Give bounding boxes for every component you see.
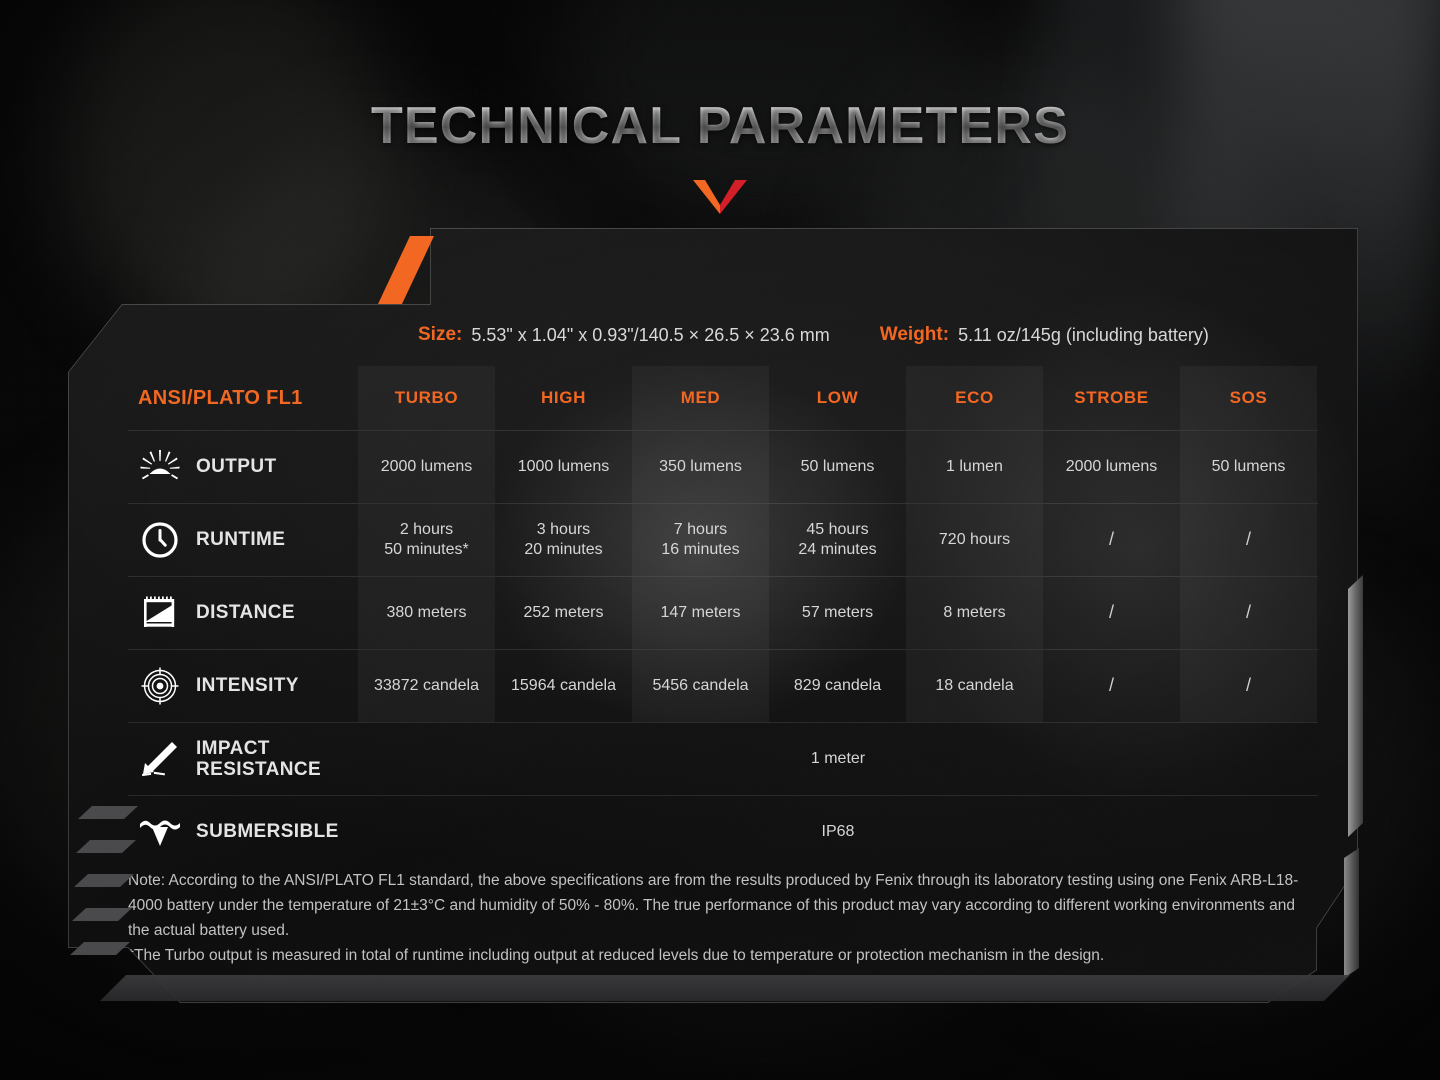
right-edge-strip-lower — [1344, 848, 1359, 978]
row-label-text: OUTPUT — [196, 456, 277, 477]
slash-decoration — [78, 806, 138, 819]
note-line-2: *The Turbo output is measured in total o… — [128, 943, 1318, 968]
row-label-text: RUNTIME — [196, 529, 285, 550]
slash-decoration — [76, 840, 136, 853]
submersible-icon — [138, 812, 182, 852]
cell-distance-low: 57 meters — [769, 577, 906, 649]
cell-impact-resistance-value: 1 meter — [358, 723, 1318, 795]
cell-runtime-low: 45 hours 24 minutes — [769, 504, 906, 576]
row-label-submersible: SUBMERSIBLE — [128, 796, 358, 868]
cell-distance-sos: / — [1180, 577, 1317, 649]
row-label-text: IMPACT RESISTANCE — [196, 738, 321, 781]
weight-value: 5.11 oz/145g (including battery) — [958, 325, 1209, 346]
row-label-text: INTENSITY — [196, 675, 299, 696]
cell-output-strobe: 2000 lumens — [1043, 431, 1180, 503]
slash-decoration — [74, 874, 134, 887]
header-mode-eco: ECO — [906, 366, 1043, 430]
bottom-tail-bar — [100, 975, 1350, 1001]
row-label-text: SUBMERSIBLE — [196, 821, 339, 842]
spec-panel: Size: 5.53" x 1.04" x 0.93"/140.5 × 26.5… — [68, 228, 1358, 1003]
note-block: Note: According to the ANSI/PLATO FL1 st… — [128, 868, 1318, 968]
cell-output-eco: 1 lumen — [906, 431, 1043, 503]
table-row: IMPACT RESISTANCE 1 meter — [128, 722, 1318, 795]
cell-runtime-eco: 720 hours — [906, 504, 1043, 576]
cell-distance-turbo: 380 meters — [358, 577, 495, 649]
chevron-down-icon — [693, 178, 747, 219]
page-title-container: TECHNICAL PARAMETERS — [0, 96, 1440, 156]
header-ansi-plato: ANSI/PLATO FL1 — [128, 366, 358, 430]
cell-output-sos: 50 lumens — [1180, 431, 1317, 503]
cell-submersible-value: IP68 — [358, 796, 1318, 868]
table-header-row: ANSI/PLATO FL1 TURBO HIGH MED LOW ECO ST… — [128, 366, 1318, 430]
cell-distance-med: 147 meters — [632, 577, 769, 649]
header-mode-med: MED — [632, 366, 769, 430]
weight-label: Weight: — [880, 324, 949, 346]
beam-ruler-icon — [138, 593, 182, 633]
spec-table: ANSI/PLATO FL1 TURBO HIGH MED LOW ECO ST… — [128, 366, 1318, 868]
cell-intensity-turbo: 33872 candela — [358, 650, 495, 722]
row-label-text: DISTANCE — [196, 602, 295, 623]
header-mode-high: HIGH — [495, 366, 632, 430]
cell-distance-strobe: / — [1043, 577, 1180, 649]
cell-runtime-med: 7 hours 16 minutes — [632, 504, 769, 576]
page-title: TECHNICAL PARAMETERS — [371, 96, 1069, 156]
cell-intensity-strobe: / — [1043, 650, 1180, 722]
impact-arrow-icon — [138, 739, 182, 779]
target-icon — [138, 666, 182, 706]
summary-strip: Size: 5.53" x 1.04" x 0.93"/140.5 × 26.5… — [68, 304, 1358, 366]
cell-intensity-high: 15964 candela — [495, 650, 632, 722]
header-mode-strobe: STROBE — [1043, 366, 1180, 430]
size-value: 5.53" x 1.04" x 0.93"/140.5 × 26.5 × 23.… — [471, 325, 829, 346]
cell-distance-high: 252 meters — [495, 577, 632, 649]
cell-output-low: 50 lumens — [769, 431, 906, 503]
left-slash-decorations — [72, 806, 138, 978]
clock-icon — [138, 520, 182, 560]
size-label: Size: — [418, 324, 462, 346]
header-mode-low: LOW — [769, 366, 906, 430]
table-row: INTENSITY 33872 candela 15964 candela 54… — [128, 649, 1318, 722]
slash-decoration — [72, 908, 132, 921]
cell-output-high: 1000 lumens — [495, 431, 632, 503]
row-label-runtime: RUNTIME — [128, 504, 358, 576]
chevron-divider-container — [0, 178, 1440, 219]
note-line-1: Note: According to the ANSI/PLATO FL1 st… — [128, 868, 1318, 943]
cell-intensity-eco: 18 candela — [906, 650, 1043, 722]
header-mode-sos: SOS — [1180, 366, 1317, 430]
cell-runtime-turbo: 2 hours 50 minutes* — [358, 504, 495, 576]
table-row: SUBMERSIBLE IP68 — [128, 795, 1318, 868]
cell-intensity-low: 829 candela — [769, 650, 906, 722]
cell-runtime-high: 3 hours 20 minutes — [495, 504, 632, 576]
table-row: DISTANCE 380 meters 252 meters 147 meter… — [128, 576, 1318, 649]
row-label-output: OUTPUT — [128, 431, 358, 503]
cell-output-med: 350 lumens — [632, 431, 769, 503]
sunburst-icon — [138, 447, 182, 487]
slash-decoration — [70, 942, 130, 955]
cell-output-turbo: 2000 lumens — [358, 431, 495, 503]
cell-runtime-sos: / — [1180, 504, 1317, 576]
right-edge-strip — [1348, 575, 1363, 837]
table-row: OUTPUT 2000 lumens 1000 lumens 350 lumen… — [128, 430, 1318, 503]
table-row: RUNTIME 2 hours 50 minutes* 3 hours 20 m… — [128, 503, 1318, 576]
row-label-intensity: INTENSITY — [128, 650, 358, 722]
cell-runtime-strobe: / — [1043, 504, 1180, 576]
cell-intensity-sos: / — [1180, 650, 1317, 722]
row-label-distance: DISTANCE — [128, 577, 358, 649]
cell-distance-eco: 8 meters — [906, 577, 1043, 649]
header-mode-turbo: TURBO — [358, 366, 495, 430]
cell-intensity-med: 5456 candela — [632, 650, 769, 722]
row-label-impact-resistance: IMPACT RESISTANCE — [128, 723, 358, 795]
